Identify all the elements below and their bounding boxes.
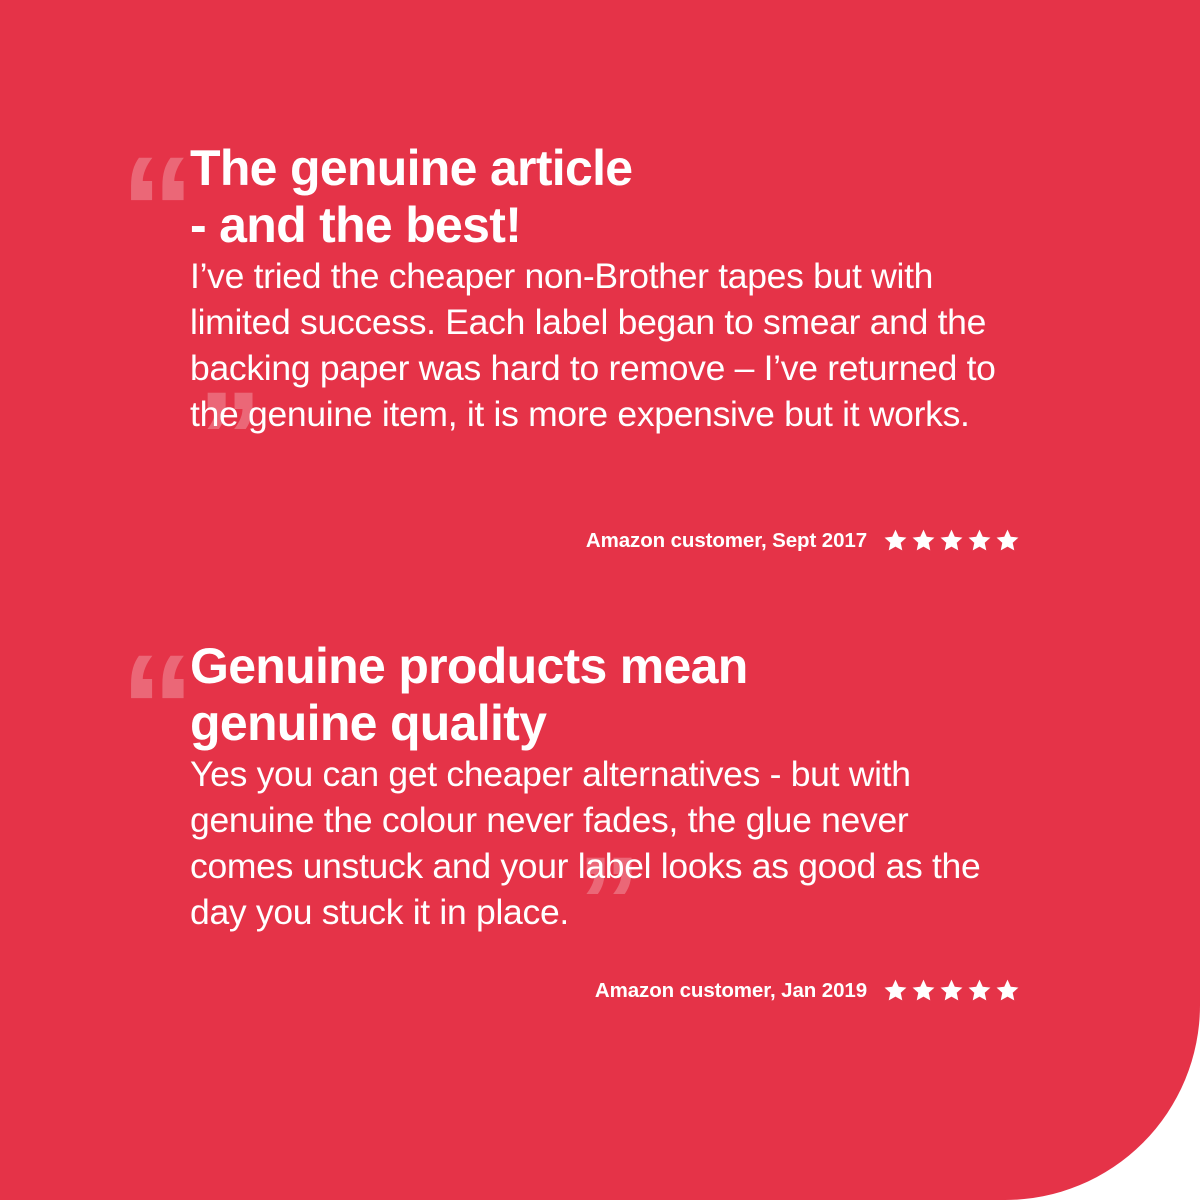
attribution-label: Amazon customer, Jan 2019 bbox=[595, 979, 867, 1003]
review-text-wrapper: Yes you can get cheaper alternatives - b… bbox=[190, 751, 1020, 936]
star-icon bbox=[911, 528, 936, 553]
review-text-wrapper: I’ve tried the cheaper non-Brother tapes… bbox=[190, 253, 1020, 464]
review-block-1: “ The genuine article - and the best! I’… bbox=[120, 140, 1020, 464]
star-rating bbox=[883, 978, 1020, 1003]
open-quote-icon: “ bbox=[120, 140, 190, 220]
star-icon bbox=[967, 978, 992, 1003]
star-icon bbox=[995, 528, 1020, 553]
open-quote-icon: “ bbox=[120, 638, 190, 718]
star-icon bbox=[967, 528, 992, 553]
review-block-2: “ Genuine products mean genuine quality … bbox=[120, 638, 1020, 936]
review-attribution: Amazon customer, Jan 2019 bbox=[595, 978, 1020, 1003]
review-body-text: I’ve tried the cheaper non-Brother tapes… bbox=[190, 256, 996, 434]
review-content-1: The genuine article - and the best! I’ve… bbox=[190, 140, 1020, 464]
star-icon bbox=[911, 978, 936, 1003]
review-content-2: Genuine products mean genuine quality Ye… bbox=[190, 638, 1020, 936]
review-headline: The genuine article - and the best! bbox=[190, 140, 1020, 253]
star-icon bbox=[995, 978, 1020, 1003]
attribution-label: Amazon customer, Sept 2017 bbox=[586, 529, 867, 553]
review-headline: Genuine products mean genuine quality bbox=[190, 638, 1020, 751]
star-icon bbox=[883, 978, 908, 1003]
testimonial-card: “ The genuine article - and the best! I’… bbox=[0, 0, 1200, 1200]
review-body-text: Yes you can get cheaper alternatives - b… bbox=[190, 754, 980, 932]
star-rating bbox=[883, 528, 1020, 553]
star-icon bbox=[939, 528, 964, 553]
review-attribution: Amazon customer, Sept 2017 bbox=[586, 528, 1020, 553]
star-icon bbox=[883, 528, 908, 553]
star-icon bbox=[939, 978, 964, 1003]
